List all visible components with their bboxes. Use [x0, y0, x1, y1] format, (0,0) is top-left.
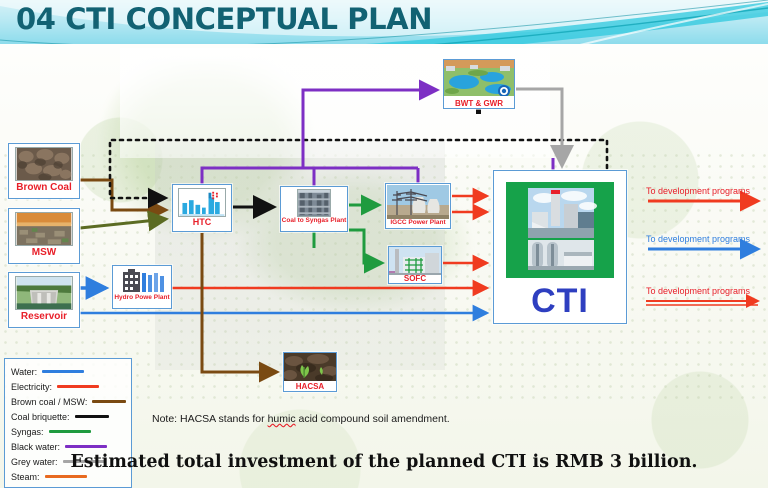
- node-cti[interactable]: CTI: [493, 170, 627, 324]
- node-reservoir[interactable]: Reservoir: [8, 272, 80, 328]
- note-misspelled-word: humic: [268, 413, 296, 425]
- sofc-plant-photo-icon: [389, 247, 441, 275]
- legend-swatch-brown-coal-msw: [92, 400, 126, 403]
- legend-label: Black water:: [11, 442, 60, 452]
- node-sofc[interactable]: SOFC: [388, 246, 442, 284]
- slide-canvas: 04 CTI CONCEPTUAL PLAN: [0, 0, 768, 488]
- wire-blackwater-network: [202, 90, 437, 186]
- cti-industrial-photo-icon: [506, 182, 614, 278]
- output-label-2: To development programs: [646, 234, 750, 244]
- node-label: Coal to Syngas Plant: [282, 218, 347, 225]
- legend-item-syngas: Syngas:: [11, 424, 131, 439]
- node-bwt-gwr[interactable]: BWT & GWR: [443, 59, 515, 109]
- wire-msw-to-htc: [80, 219, 166, 228]
- legend-label: Coal briquette:: [11, 412, 70, 422]
- node-label: Hydro Powe Plant: [114, 295, 169, 302]
- note-prefix: Note: HACSA stands for: [152, 413, 268, 425]
- wire-syngas-to-sofc: [349, 230, 382, 263]
- seedling-soil-photo-icon: [284, 353, 336, 381]
- node-label: MSW: [32, 248, 56, 259]
- node-htc[interactable]: HTC: [172, 184, 232, 232]
- legend-swatch-steam: [45, 475, 87, 478]
- node-brown-coal[interactable]: Brown Coal: [8, 143, 80, 199]
- node-hydro-power-plant[interactable]: Hydro Powe Plant: [112, 265, 172, 309]
- wire-igcc-electricity-to-cti: [452, 196, 487, 212]
- investment-statement: Estimated total investment of the planne…: [0, 452, 768, 472]
- slide-header: 04 CTI CONCEPTUAL PLAN: [0, 0, 768, 44]
- legend-swatch-syngas: [49, 430, 91, 433]
- output-label-3: To development programs: [646, 286, 750, 296]
- node-label: HTC: [193, 218, 212, 227]
- wire-bwt-bottom-stub: [476, 109, 481, 114]
- node-igcc-power-plant[interactable]: IGCC Power Plant: [385, 183, 451, 229]
- legend-item-electricity: Electricity:: [11, 379, 131, 394]
- legend-label: Syngas:: [11, 427, 44, 437]
- dam-reservoir-photo-icon: [15, 276, 73, 310]
- wire-htc-to-hacsa: [202, 233, 277, 372]
- legend-label: Electricity:: [11, 382, 52, 392]
- legend-swatch-black-water: [65, 445, 107, 448]
- node-label: BWT & GWR: [444, 100, 514, 108]
- node-label: Brown Coal: [16, 183, 72, 194]
- note-suffix: acid compound soil amendment.: [296, 413, 450, 425]
- water-treatment-photo-icon: [444, 60, 514, 96]
- node-label: IGCC Power Plant: [386, 220, 450, 227]
- node-label: Reservoir: [21, 312, 67, 323]
- node-label: SOFC: [389, 275, 441, 283]
- legend-label: Steam:: [11, 472, 40, 482]
- node-hacsa[interactable]: HACSA: [283, 352, 337, 392]
- wire-browncoal-to-htc: [80, 180, 166, 210]
- node-label: HACSA: [284, 383, 336, 391]
- legend-swatch-electricity: [57, 385, 99, 388]
- legend-swatch-coal-briquette: [75, 415, 109, 418]
- legend-item-water: Water:: [11, 364, 131, 379]
- legend-item-coal-briquette: Coal briquette:: [11, 409, 131, 424]
- output-label-1: To development programs: [646, 186, 750, 196]
- legend-swatch-water: [42, 370, 84, 373]
- municipal-solid-waste-photo-icon: [15, 212, 73, 246]
- syngas-plant-photo-icon: [297, 189, 331, 217]
- hydro-power-plant-icon: [119, 268, 165, 294]
- brown-coal-photo-icon: [15, 147, 73, 181]
- node-msw[interactable]: MSW: [8, 208, 80, 264]
- note-text: Note: HACSA stands for humic acid compou…: [152, 413, 450, 425]
- igcc-power-plant-photo-icon: [387, 185, 449, 219]
- wire-greywater-bwt-to-cti: [516, 89, 562, 166]
- cti-label: CTI: [531, 282, 589, 321]
- page-title: 04 CTI CONCEPTUAL PLAN: [16, 2, 432, 36]
- legend-label: Water:: [11, 367, 37, 377]
- legend-item-brown-coal-msw: Brown coal / MSW:: [11, 394, 131, 409]
- node-coal-to-syngas-plant[interactable]: Coal to Syngas Plant: [280, 186, 348, 232]
- wire-output-3: [646, 301, 758, 305]
- htc-plant-icon: [178, 188, 226, 217]
- legend-label: Brown coal / MSW:: [11, 397, 87, 407]
